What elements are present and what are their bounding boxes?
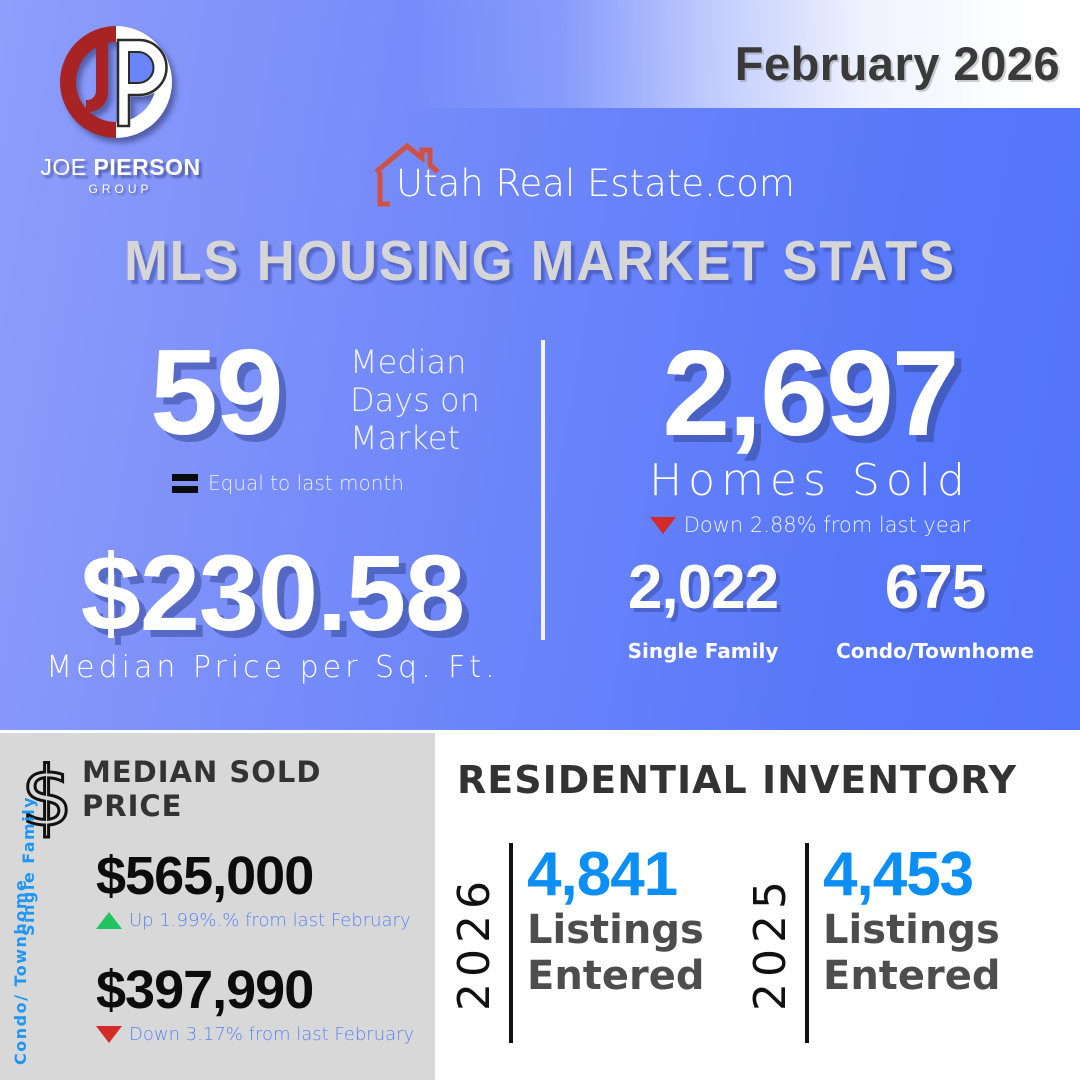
price-per-sqft-value: $230.58	[0, 540, 545, 646]
header-hero-panel: February 2026 JOE PIERSON GROUP Utah Rea…	[0, 0, 1080, 730]
condo-townhome-median-price: $397,990	[96, 960, 436, 1020]
equals-icon	[172, 473, 198, 493]
jp-monogram-icon	[56, 22, 176, 142]
inventory-body-2025: 4,453 Listings Entered	[823, 843, 1053, 999]
median-sold-price-header: $ MEDIAN SOLD PRICE	[18, 755, 321, 839]
inventory-sub-2025-line1: Listings	[823, 907, 1053, 953]
brand-name-first: JOE	[40, 154, 93, 180]
residential-inventory-title: RESIDENTIAL INVENTORY	[457, 758, 1017, 802]
triangle-up-icon	[96, 912, 122, 929]
condo-townhome-change: Down 3.17% from last February	[96, 1024, 436, 1045]
vertical-label-condo-townhome: Condo/ Townhome	[10, 955, 32, 1065]
triangle-down-icon	[650, 517, 676, 534]
breakdown-single-family: 2,022 Single Family	[588, 555, 818, 663]
inventory-sub-2025-line2: Entered	[823, 953, 1053, 999]
median-sold-price-title-line2: PRICE	[82, 789, 321, 823]
inventory-body-2026: 4,841 Listings Entered	[527, 843, 757, 999]
page-title: February 2026	[735, 36, 1060, 91]
inventory-count-2025: 4,453	[823, 843, 1053, 907]
days-on-market-change: Equal to last month	[172, 471, 404, 495]
median-sold-price-title-line1: MEDIAN SOLD	[82, 755, 321, 789]
homes-sold-value: 2,697	[560, 333, 1060, 453]
median-sold-price-row-condo-townhome: $397,990 Down 3.17% from last February	[96, 960, 436, 1045]
breakdown-single-family-label: Single Family	[588, 639, 818, 663]
days-on-market-value: 59	[150, 333, 282, 451]
brand-subtitle: GROUP	[18, 182, 223, 196]
stat-days-on-market: 59 Median Days on Market Equal to last m…	[150, 333, 530, 463]
residential-inventory-panel: RESIDENTIAL INVENTORY 2026 4,841 Listing…	[435, 733, 1080, 1080]
inventory-count-2026: 4,841	[527, 843, 757, 907]
single-family-change-text: Up 1.99%.% from last February	[129, 910, 411, 931]
homes-sold-change-text: Down 2.88% from last year	[684, 513, 971, 537]
brand-name: JOE PIERSON	[18, 154, 223, 181]
main-heading: MLS HOUSING MARKET STATS	[43, 228, 1037, 294]
days-on-market-label: Median Days on Market	[350, 343, 530, 457]
triangle-down-icon	[96, 1026, 122, 1043]
breakdown-single-family-value: 2,022	[588, 555, 818, 621]
median-sold-price-title: MEDIAN SOLD PRICE	[82, 755, 321, 823]
inventory-group-2025: 2025 4,453 Listings Entered	[745, 843, 1055, 1053]
single-family-change: Up 1.99%.% from last February	[96, 910, 436, 931]
inventory-year-2025: 2025	[745, 843, 796, 1043]
inventory-year-2026: 2026	[449, 843, 500, 1043]
homes-sold-label: Homes Sold	[560, 455, 1060, 507]
brand-logo: JOE PIERSON GROUP	[18, 22, 223, 192]
median-sold-price-panel: $ MEDIAN SOLD PRICE Single Family Condo/…	[0, 733, 435, 1080]
inventory-group-2026: 2026 4,841 Listings Entered	[449, 843, 749, 1053]
single-family-median-price: $565,000	[96, 846, 436, 906]
stat-price-per-sqft: $230.58 Median Price per Sq. Ft.	[0, 540, 545, 685]
inventory-divider	[805, 843, 809, 1043]
inventory-sub-2026-line1: Listings	[527, 907, 757, 953]
breakdown-condo-townhome-value: 675	[820, 555, 1050, 621]
median-sold-price-row-single-family: $565,000 Up 1.99%.% from last February	[96, 846, 436, 931]
inventory-sub-2026-line2: Entered	[527, 953, 757, 999]
inventory-divider	[509, 843, 513, 1043]
source-logo: Utah Real Estate.com	[372, 138, 712, 218]
breakdown-condo-townhome-label: Condo/Townhome	[820, 639, 1050, 663]
price-per-sqft-label: Median Price per Sq. Ft.	[0, 650, 545, 685]
source-logo-text: Utah Real Estate.com	[396, 162, 795, 205]
breakdown-condo-townhome: 675 Condo/Townhome	[820, 555, 1050, 663]
condo-townhome-change-text: Down 3.17% from last February	[129, 1024, 414, 1045]
brand-name-last: PIERSON	[94, 154, 201, 180]
stat-homes-sold: 2,697 Homes Sold Down 2.88% from last ye…	[560, 333, 1060, 537]
days-on-market-change-text: Equal to last month	[208, 471, 404, 495]
homes-sold-change: Down 2.88% from last year	[560, 513, 1060, 537]
